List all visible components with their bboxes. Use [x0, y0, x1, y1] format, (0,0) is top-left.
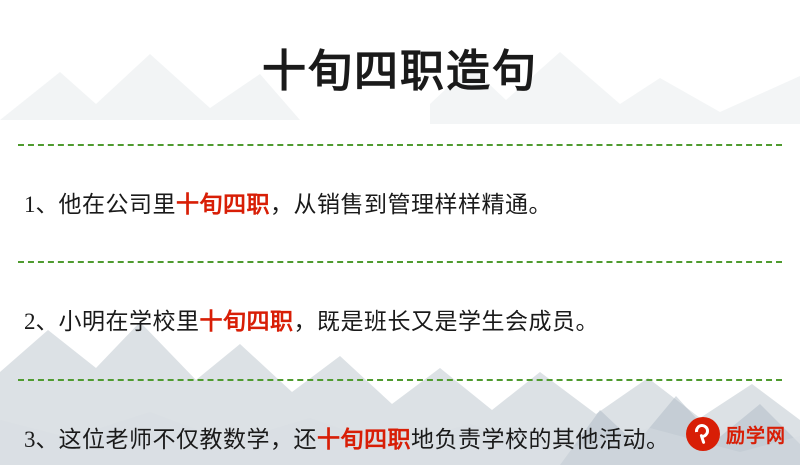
- document-content: 十旬四职造句 1、他在公司里十旬四职，从销售到管理样样精通。 2、小明在学校里十…: [0, 29, 800, 465]
- divider-2: [18, 379, 782, 381]
- watermark-logo: 励学网: [686, 417, 786, 451]
- page-title: 十旬四职造句: [18, 29, 782, 114]
- document-page: 十旬四职造句 1、他在公司里十旬四职，从销售到管理样样精通。 2、小明在学校里十…: [0, 0, 800, 465]
- sentence-number: 2、: [24, 309, 59, 334]
- watermark-brand: 励学网: [726, 421, 786, 448]
- sentence-keyword: 十旬四职: [176, 192, 270, 217]
- sentence-number: 3、: [24, 427, 59, 452]
- sentence-number: 1、: [24, 192, 59, 217]
- sentence-text-before: 这位老师不仅教数学，还: [59, 427, 318, 452]
- sentence-keyword: 十旬四职: [317, 427, 411, 452]
- sentence-text-before: 小明在学校里: [59, 309, 200, 334]
- sentence-text-after: ，既是班长又是学生会成员。: [294, 309, 600, 334]
- sentence-item: 1、他在公司里十旬四职，从销售到管理样样精通。: [18, 169, 782, 239]
- sentence-item: 2、小明在学校里十旬四职，既是班长又是学生会成员。: [18, 286, 782, 356]
- sentence-text-after: 地负责学校的其他活动。: [411, 427, 670, 452]
- swoosh-circle-icon: [686, 417, 720, 451]
- sentence-text-after: ，从销售到管理样样精通。: [270, 192, 552, 217]
- divider-1: [18, 261, 782, 263]
- sentence-text-before: 他在公司里: [59, 192, 177, 217]
- sentence-keyword: 十旬四职: [200, 309, 294, 334]
- divider-top: [18, 144, 782, 146]
- sentence-item: 3、这位老师不仅教数学，还十旬四职地负责学校的其他活动。: [18, 404, 782, 465]
